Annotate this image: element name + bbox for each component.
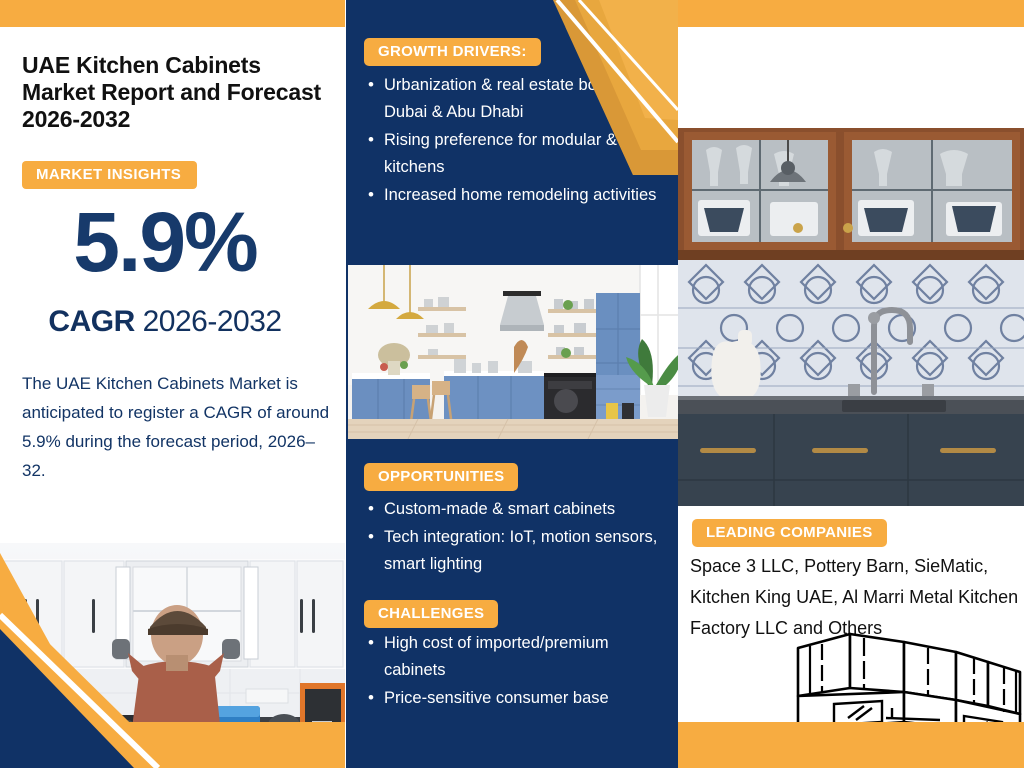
bottom-gold-bar-left (0, 722, 345, 768)
modern-kitchen-photo (348, 265, 678, 439)
middle-column-top-cap (346, 0, 678, 27)
list-item: Tech integration: IoT, motion sensors, s… (364, 524, 664, 578)
cagr-label: CAGR 2026-2032 (0, 305, 330, 339)
list-item: Price-sensitive consumer base (364, 685, 669, 712)
middle-column-bottom-cap (346, 722, 678, 768)
growth-drivers-list: Urbanization & real estate boom in Dubai… (364, 72, 664, 210)
cagr-label-range: 2026-2032 (135, 305, 282, 338)
growth-drivers-badge: GROWTH DRIVERS: (364, 38, 541, 66)
market-insights-badge: MARKET INSIGHTS (22, 161, 197, 189)
bottom-gold-bar-right (678, 722, 1024, 768)
infographic-canvas: UAE Kitchen Cabinets Market Report and F… (0, 0, 1024, 768)
top-gold-bar-right (678, 0, 1024, 27)
opportunities-badge: OPPORTUNITIES (364, 463, 518, 491)
challenges-list: High cost of imported/premium cabinets P… (364, 630, 669, 713)
list-item: Increased home remodeling activities (364, 182, 664, 209)
page-title: UAE Kitchen Cabinets Market Report and F… (22, 52, 322, 133)
left-column: UAE Kitchen Cabinets Market Report and F… (0, 0, 340, 768)
list-item: Custom-made & smart cabinets (364, 496, 664, 523)
top-gold-bar-left (0, 0, 345, 27)
wood-cabinet-kitchen-photo (678, 128, 1024, 506)
leading-companies-badge: LEADING COMPANIES (692, 519, 887, 547)
list-item: Rising preference for modular & smart ki… (364, 127, 664, 181)
cagr-value: 5.9% (0, 196, 330, 288)
cagr-label-bold: CAGR (48, 305, 134, 338)
list-item: High cost of imported/premium cabinets (364, 630, 669, 684)
market-summary-text: The UAE Kitchen Cabinets Market is antic… (22, 369, 332, 485)
challenges-badge: CHALLENGES (364, 600, 498, 628)
right-column: R Cube LEADING COMPANIES Space 3 LLC, Po… (678, 0, 1024, 768)
list-item: Urbanization & real estate boom in Dubai… (364, 72, 664, 126)
middle-column: GROWTH DRIVERS: Urbanization & real esta… (346, 0, 678, 768)
opportunities-list: Custom-made & smart cabinets Tech integr… (364, 496, 664, 579)
